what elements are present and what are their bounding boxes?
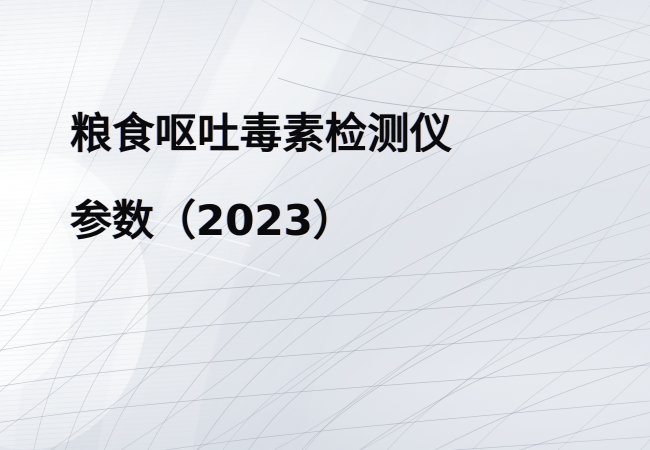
banner-title-line-1: 粮食呕吐毒素检测仪 [70,112,590,156]
banner-image: 粮食呕吐毒素检测仪 参数（2023） [0,0,650,450]
banner-title-line-2: 参数（2023） [70,199,590,243]
banner-title-block: 粮食呕吐毒素检测仪 参数（2023） [70,112,590,243]
